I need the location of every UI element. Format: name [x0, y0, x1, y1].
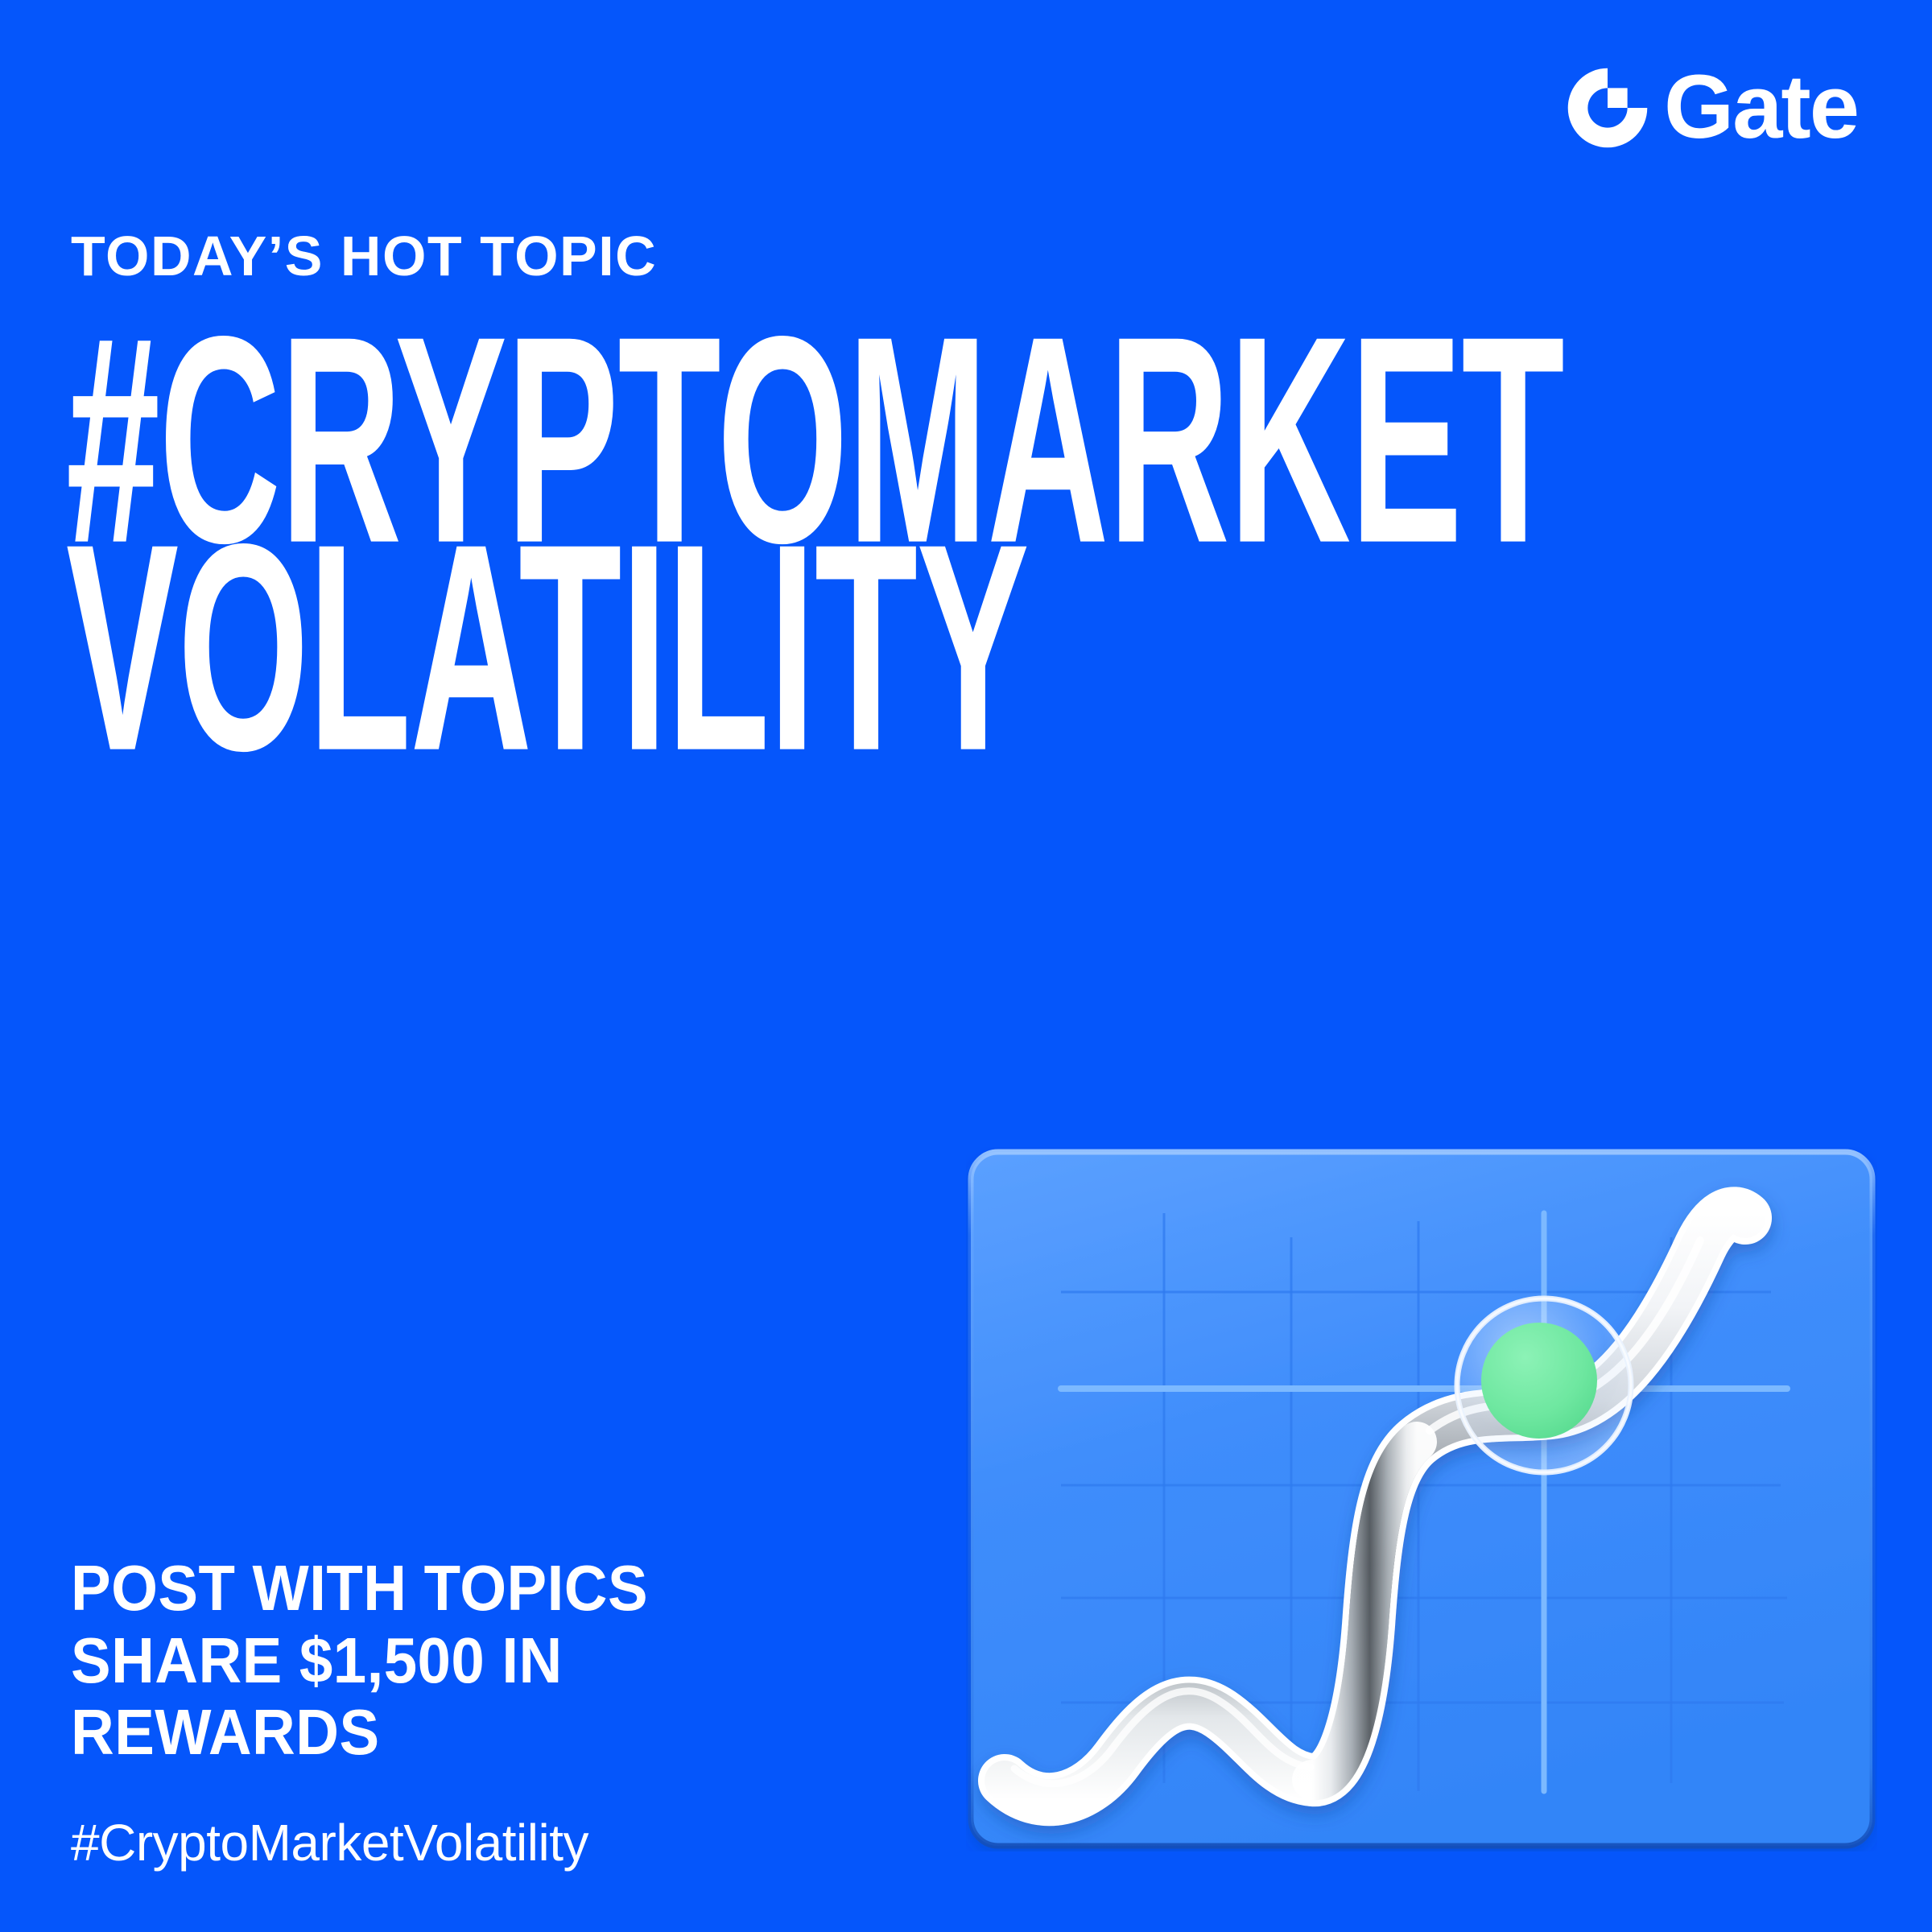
gate-circle-logo-icon — [1563, 63, 1653, 157]
hashtag-label: #CryptoMarketVolatility — [71, 1817, 588, 1868]
marker-dot-green — [1481, 1323, 1597, 1439]
cta-line-2: SHARE $1,500 IN — [71, 1624, 819, 1697]
gate-wordmark: Gate — [1664, 62, 1858, 152]
cta-line-3: REWARDS — [71, 1696, 819, 1769]
promo-poster: Gate TODAY’S HOT TOPIC #CRYPTOMARKET VOL… — [0, 0, 1932, 1932]
page-title: #CRYPTOMARKET VOLATILITY — [66, 316, 1837, 726]
chart-illustration — [966, 1147, 1877, 1851]
cta-line-1: POST WITH TOPICS — [71, 1552, 819, 1624]
chart-marker — [1457, 1298, 1631, 1472]
cta-block: POST WITH TOPICS SHARE $1,500 IN REWARDS — [71, 1552, 876, 1769]
headline-line-2: VOLATILITY — [66, 523, 1306, 770]
gate-logo[interactable]: Gate — [1563, 63, 1858, 157]
